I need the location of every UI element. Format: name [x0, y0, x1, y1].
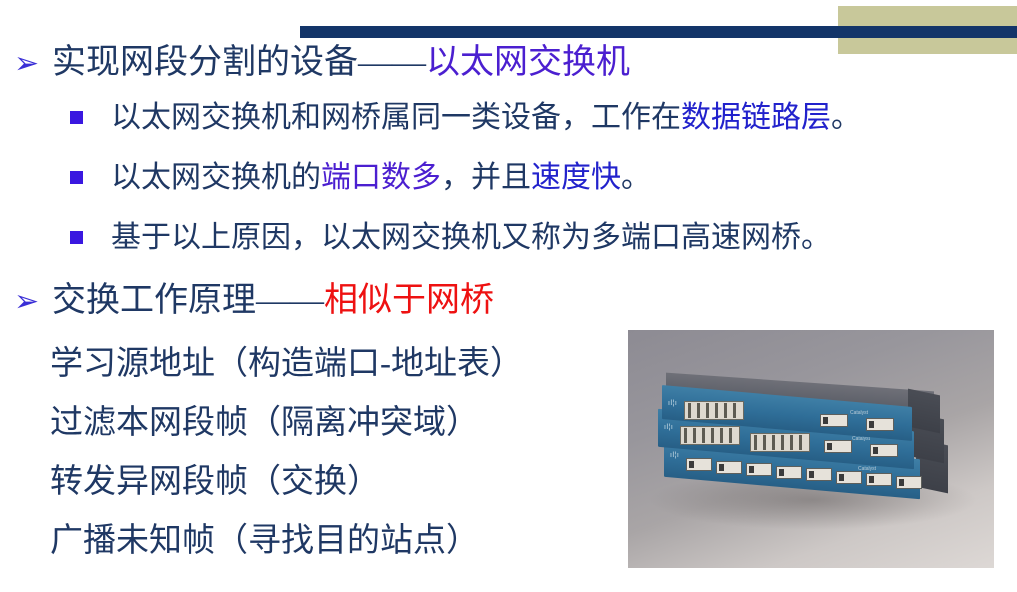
sub-2-segment-3: 速度快 — [531, 161, 621, 194]
bullet-line-sub-3: 基于以上原因，以太网交换机又称为多端口高速网桥。 — [70, 223, 831, 253]
decor-khaki-block-top — [838, 6, 1017, 26]
switch-bottom-gbic-4 — [776, 466, 802, 479]
switch-middle-brand-icon: ıl¦ı — [664, 424, 673, 431]
text-line-step-3: 转发异网段帧（交换） — [50, 466, 380, 499]
sub-1-segment-2: 。 — [831, 101, 861, 134]
decor-khaki-block-bottom — [838, 38, 1017, 54]
switch-top-brand-icon: ıl¦ı — [668, 400, 677, 407]
sub-3-segment-0: 基于以上原因，以太网交换机又称为多端口高速网桥。 — [111, 221, 831, 254]
square-bullet-icon — [70, 171, 83, 184]
heading-2-segment-1: 相似于网桥 — [324, 282, 494, 319]
switch-bottom-gbic-1 — [686, 458, 712, 471]
slide-canvas: ➢实现网段分割的设备——以太网交换机 以太网交换机和网桥属同一类设备，工作在数据… — [0, 0, 1017, 592]
switch-bottom-gbic-6 — [836, 471, 862, 484]
sub-2-segment-0: 以太网交换机的 — [111, 161, 321, 194]
switch-middle-port-bank-2 — [750, 433, 810, 452]
heading-1-segment-1: 以太网交换机 — [426, 44, 630, 81]
square-bullet-icon — [70, 231, 83, 244]
arrow-bullet-icon: ➢ — [14, 287, 52, 317]
heading-1-segment-0: 实现网段分割的设备—— — [52, 44, 426, 81]
bullet-line-sub-1: 以太网交换机和网桥属同一类设备，工作在数据链路层。 — [70, 103, 861, 133]
switch-top-gbic-2 — [866, 418, 894, 431]
switch-top-right-side — [908, 389, 940, 434]
switch-top-gbic-1 — [820, 414, 848, 427]
sub-2-segment-4: 。 — [621, 161, 651, 194]
heading-2-segment-0: 交换工作原理—— — [52, 282, 324, 319]
bullet-line-heading-2: ➢交换工作原理——相似于网桥 — [14, 284, 494, 318]
square-bullet-icon — [70, 111, 83, 124]
bullet-line-sub-2: 以太网交换机的端口数多，并且速度快。 — [70, 163, 651, 193]
switch-stack-photo: ıl¦ı Catalyst ıl¦ı Catalyst ıl¦ı — [628, 330, 994, 568]
switch-bottom-gbic-7 — [866, 473, 892, 486]
switch-middle-gbic-2 — [870, 444, 898, 457]
switch-bottom-brand-icon: ıl¦ı — [670, 452, 679, 459]
bullet-line-heading-1: ➢实现网段分割的设备——以太网交换机 — [14, 46, 630, 80]
text-line-step-4: 广播未知帧（寻找目的站点） — [50, 525, 479, 558]
switch-bottom-gbic-8 — [896, 476, 922, 489]
text-line-step-2: 过滤本网段帧（隔离冲突域） — [50, 407, 479, 440]
sub-2-segment-1: 端口数多 — [321, 161, 441, 194]
arrow-bullet-icon: ➢ — [14, 49, 52, 79]
sub-2-segment-2: ，并且 — [441, 161, 531, 194]
switch-bottom-gbic-5 — [806, 468, 832, 481]
switch-top-port-bank-1 — [684, 401, 744, 420]
switch-middle-gbic-1 — [824, 440, 852, 453]
decor-navy-rule — [300, 26, 1017, 38]
switch-top-model-label: Catalyst — [850, 410, 868, 416]
sub-1-segment-1: 数据链路层 — [681, 101, 831, 134]
switch-middle-port-bank-1 — [680, 426, 740, 445]
sub-1-segment-0: 以太网交换机和网桥属同一类设备，工作在 — [111, 101, 681, 134]
switch-bottom-gbic-2 — [716, 461, 742, 474]
text-line-step-1: 学习源地址（构造端口-地址表） — [50, 348, 523, 381]
switch-bottom-gbic-3 — [746, 463, 772, 476]
